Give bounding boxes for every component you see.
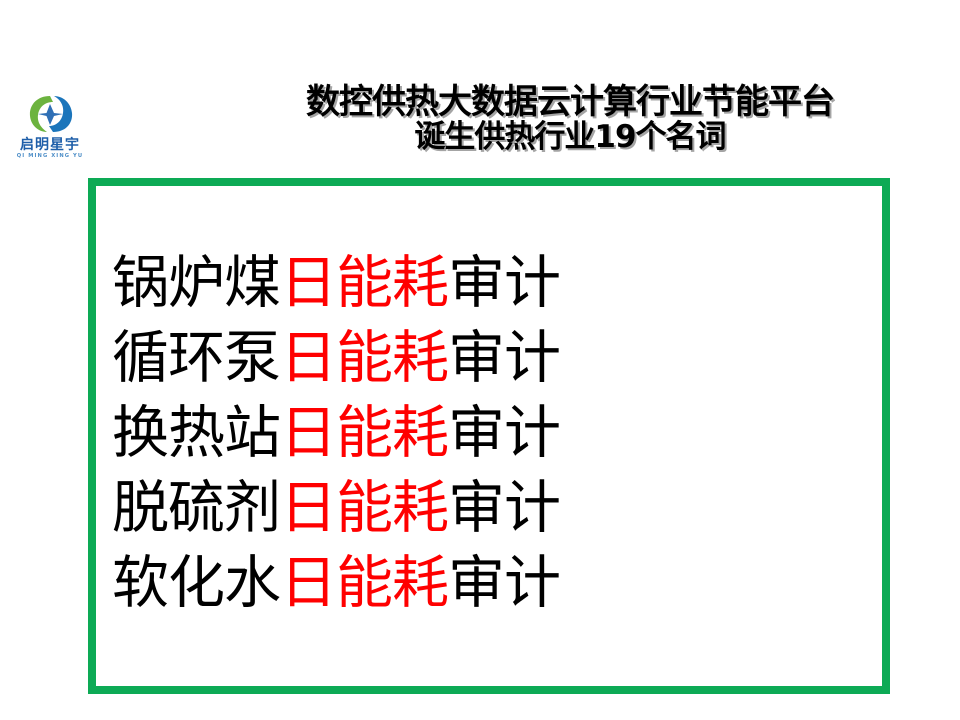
- line-3-prefix: 换热站: [112, 400, 280, 466]
- title-line-1: 数控供热大数据云计算行业节能平台: [190, 84, 950, 120]
- content-line-5: 软化水日能耗审计: [112, 546, 872, 621]
- line-4-highlight: 日能耗: [280, 475, 448, 541]
- content-line-3: 换热站日能耗审计: [112, 396, 872, 471]
- line-4-prefix: 脱硫剂: [112, 475, 280, 541]
- content-line-1: 锅炉煤日能耗审计: [112, 246, 872, 321]
- content-line-4: 脱硫剂日能耗审计: [112, 471, 872, 546]
- title-line-2: 诞生供热行业19个名词: [190, 120, 950, 155]
- line-3-suffix: 审计: [448, 400, 560, 466]
- line-2-suffix: 审计: [448, 325, 560, 391]
- logo-name-cn: 启明星宇: [14, 138, 86, 152]
- logo-name-en: QI MING XING YU: [14, 154, 86, 159]
- content-box: 锅炉煤日能耗审计 循环泵日能耗审计 换热站日能耗审计 脱硫剂日能耗审计 软化水日…: [88, 178, 890, 694]
- line-1-highlight: 日能耗: [280, 250, 448, 316]
- slide-canvas: 启明星宇 QI MING XING YU 数控供热大数据云计算行业节能平台 诞生…: [0, 0, 960, 720]
- content-line-2: 循环泵日能耗审计: [112, 321, 872, 396]
- content-line-list: 锅炉煤日能耗审计 循环泵日能耗审计 换热站日能耗审计 脱硫剂日能耗审计 软化水日…: [112, 246, 872, 621]
- slide-title: 数控供热大数据云计算行业节能平台 诞生供热行业19个名词: [190, 84, 950, 155]
- line-3-highlight: 日能耗: [280, 400, 448, 466]
- line-4-suffix: 审计: [448, 475, 560, 541]
- company-logo: 启明星宇 QI MING XING YU: [14, 92, 86, 168]
- line-2-highlight: 日能耗: [280, 325, 448, 391]
- line-2-prefix: 循环泵: [112, 325, 280, 391]
- line-1-suffix: 审计: [448, 250, 560, 316]
- line-5-highlight: 日能耗: [280, 550, 448, 616]
- line-5-suffix: 审计: [448, 550, 560, 616]
- line-1-prefix: 锅炉煤: [112, 250, 280, 316]
- line-5-prefix: 软化水: [112, 550, 280, 616]
- qimingxingyu-swirl-logo-icon: [24, 92, 76, 136]
